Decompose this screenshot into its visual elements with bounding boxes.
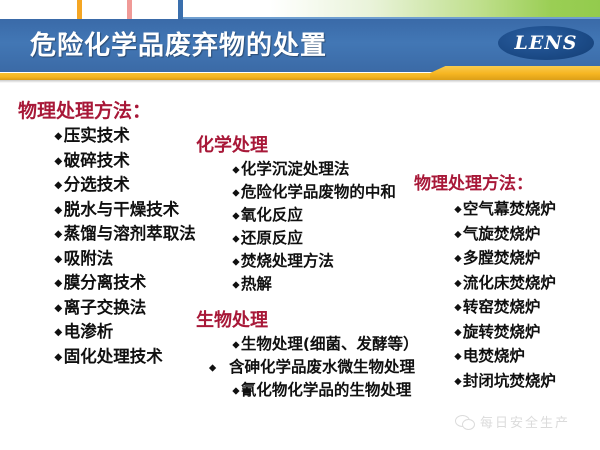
column-heading: 生物处理: [196, 308, 441, 333]
list-item-label: 氰化物化学品的生物处理: [241, 381, 412, 399]
diamond-bullet-icon: ◆: [54, 300, 62, 315]
list-item: ◆还原反应: [196, 227, 416, 250]
list-item: ◆含砷化学品废水微生物处理: [196, 356, 441, 379]
bullet-list: ◆生物处理(细菌、发酵等） ◆含砷化学品废水微生物处理 ◆氰化物化学品的生物处理: [196, 333, 441, 402]
list-item-label: 电渗析: [64, 322, 114, 341]
list-item-label: 多膛焚烧炉: [463, 249, 541, 267]
wechat-icon: [455, 414, 474, 429]
slide-canvas: 危险化学品废弃物的处置 LENS 物理处理方法： ◆压实技术 ◆破碎技术 ◆分选…: [0, 0, 600, 450]
list-item: ◆吸附法: [18, 247, 203, 272]
list-item: ◆热解: [196, 273, 416, 296]
accent-band-right: [470, 66, 600, 80]
accent-band-left: [0, 73, 440, 80]
list-item: ◆流化床焚烧炉: [414, 271, 600, 296]
diamond-bullet-icon: ◆: [54, 202, 62, 217]
strip-tick-pink: [127, 0, 132, 19]
list-item-label: 吸附法: [64, 249, 114, 268]
list-item: ◆固化处理技术: [18, 345, 203, 370]
diamond-bullet-icon: ◆: [232, 231, 239, 245]
column-incineration-methods: 物理处理方法： ◆空气幕焚烧炉 ◆气旋焚烧炉 ◆多膛焚烧炉 ◆流化床焚烧炉 ◆转…: [414, 172, 600, 393]
list-item-label: 氧化反应: [241, 206, 303, 224]
list-item: ◆旋转焚烧炉: [414, 320, 600, 345]
accent-band-shadow: [0, 80, 600, 83]
accent-band: [0, 66, 600, 80]
list-item: ◆蒸馏与溶剂萃取法: [18, 222, 203, 247]
column-heading: 物理处理方法：: [414, 172, 600, 197]
diamond-bullet-icon: ◆: [232, 277, 239, 291]
top-decorative-strip: [0, 0, 600, 19]
lens-logo: LENS: [498, 26, 594, 60]
list-item: ◆化学沉淀处理法: [196, 158, 416, 181]
list-item: ◆氧化反应: [196, 204, 416, 227]
watermark: 每日安全生产: [455, 412, 570, 431]
list-item-label: 空气幕焚烧炉: [463, 200, 556, 218]
list-item: ◆生物处理(细菌、发酵等）: [196, 333, 441, 356]
diamond-bullet-icon: ◆: [54, 178, 62, 193]
list-item: ◆电焚烧炉: [414, 344, 600, 369]
list-item-label: 分选技术: [64, 175, 130, 194]
list-item-label: 含砷化学品废水微生物处理: [229, 358, 415, 376]
list-item-label: 热解: [241, 275, 272, 293]
diamond-bullet-icon: ◆: [232, 185, 239, 199]
list-item-label: 生物处理(细菌、发酵等）: [241, 335, 419, 353]
diamond-bullet-icon: ◆: [454, 349, 461, 364]
wechat-icon-bubble-small: [462, 419, 475, 430]
list-item: ◆危险化学品废物的中和: [196, 181, 416, 204]
list-item: ◆压实技术: [18, 124, 203, 149]
strip-tick-orange: [77, 0, 82, 19]
list-item-label: 脱水与干燥技术: [64, 200, 180, 219]
list-item-label: 流化床焚烧炉: [463, 274, 556, 292]
diamond-bullet-icon: ◆: [454, 324, 461, 339]
watermark-label: 每日安全生产: [480, 412, 570, 431]
list-item-label: 化学沉淀处理法: [241, 160, 350, 178]
diamond-bullet-icon: ◆: [54, 153, 62, 168]
list-item-label: 转窑焚烧炉: [463, 298, 541, 316]
list-item-label: 固化处理技术: [64, 347, 163, 366]
list-item: ◆气旋焚烧炉: [414, 222, 600, 247]
list-item: ◆破碎技术: [18, 149, 203, 174]
diamond-bullet-icon: ◆: [232, 337, 239, 351]
list-item: ◆离子交换法: [18, 296, 203, 321]
list-item-label: 旋转焚烧炉: [463, 323, 541, 341]
lens-logo-text: LENS: [498, 26, 594, 60]
diamond-bullet-icon: ◆: [454, 226, 461, 241]
list-item: ◆氰化物化学品的生物处理: [196, 379, 441, 402]
bullet-list: ◆化学沉淀处理法 ◆危险化学品废物的中和 ◆氧化反应 ◆还原反应 ◆焚烧处理方法…: [196, 158, 416, 296]
list-item: ◆转窑焚烧炉: [414, 295, 600, 320]
diamond-bullet-icon: ◆: [232, 208, 239, 222]
list-item-label: 气旋焚烧炉: [463, 225, 541, 243]
diamond-bullet-icon: ◆: [54, 325, 62, 340]
list-item-label: 压实技术: [64, 126, 130, 145]
column-heading: 化学处理: [196, 133, 416, 158]
diamond-bullet-icon: ◆: [454, 275, 461, 290]
diamond-bullet-icon: ◆: [54, 129, 62, 144]
diamond-bullet-icon: ◆: [454, 251, 461, 266]
bullet-list: ◆空气幕焚烧炉 ◆气旋焚烧炉 ◆多膛焚烧炉 ◆流化床焚烧炉 ◆转窑焚烧炉 ◆旋转…: [414, 197, 600, 393]
list-item-label: 危险化学品废物的中和: [241, 183, 396, 201]
list-item-label: 封闭坑焚烧炉: [463, 372, 556, 390]
list-item-label: 离子交换法: [64, 298, 147, 317]
diamond-bullet-icon: ◆: [232, 383, 239, 397]
list-item: ◆膜分离技术: [18, 271, 203, 296]
diamond-bullet-icon: ◆: [454, 300, 461, 315]
diamond-bullet-icon: ◆: [54, 276, 62, 291]
bullet-list: ◆压实技术 ◆破碎技术 ◆分选技术 ◆脱水与干燥技术 ◆蒸馏与溶剂萃取法 ◆吸附…: [18, 124, 203, 369]
column-chemical-treatment: 化学处理 ◆化学沉淀处理法 ◆危险化学品废物的中和 ◆氧化反应 ◆还原反应 ◆焚…: [196, 133, 416, 296]
list-item-label: 焚烧处理方法: [241, 252, 334, 270]
list-item-label: 蒸馏与溶剂萃取法: [64, 224, 196, 243]
list-item: ◆焚烧处理方法: [196, 250, 416, 273]
diamond-bullet-icon: ◆: [54, 349, 62, 364]
column-biological-treatment: 生物处理 ◆生物处理(细菌、发酵等） ◆含砷化学品废水微生物处理 ◆氰化物化学品…: [196, 308, 441, 402]
diamond-bullet-icon: ◆: [454, 373, 461, 388]
list-item-label: 破碎技术: [64, 151, 130, 170]
diamond-bullet-icon: ◆: [232, 254, 239, 268]
list-item: ◆脱水与干燥技术: [18, 198, 203, 223]
list-item: ◆多膛焚烧炉: [414, 246, 600, 271]
list-item-label: 电焚烧炉: [463, 347, 525, 365]
diamond-bullet-icon: ◆: [54, 227, 62, 242]
diamond-bullet-icon: ◆: [54, 251, 62, 266]
list-item: ◆分选技术: [18, 173, 203, 198]
diamond-bullet-icon: ◆: [454, 202, 461, 217]
column-physical-treatment-methods: 物理处理方法： ◆压实技术 ◆破碎技术 ◆分选技术 ◆脱水与干燥技术 ◆蒸馏与溶…: [18, 98, 203, 369]
list-item: ◆空气幕焚烧炉: [414, 197, 600, 222]
slide-title: 危险化学品废弃物的处置: [30, 25, 327, 62]
column-heading: 物理处理方法：: [18, 98, 203, 124]
accent-band-diagonal: [430, 66, 474, 80]
list-item: ◆电渗析: [18, 320, 203, 345]
list-item-label: 还原反应: [241, 229, 303, 247]
list-item: ◆封闭坑焚烧炉: [414, 369, 600, 394]
list-item-label: 膜分离技术: [64, 273, 147, 292]
diamond-bullet-icon: ◆: [232, 162, 239, 176]
